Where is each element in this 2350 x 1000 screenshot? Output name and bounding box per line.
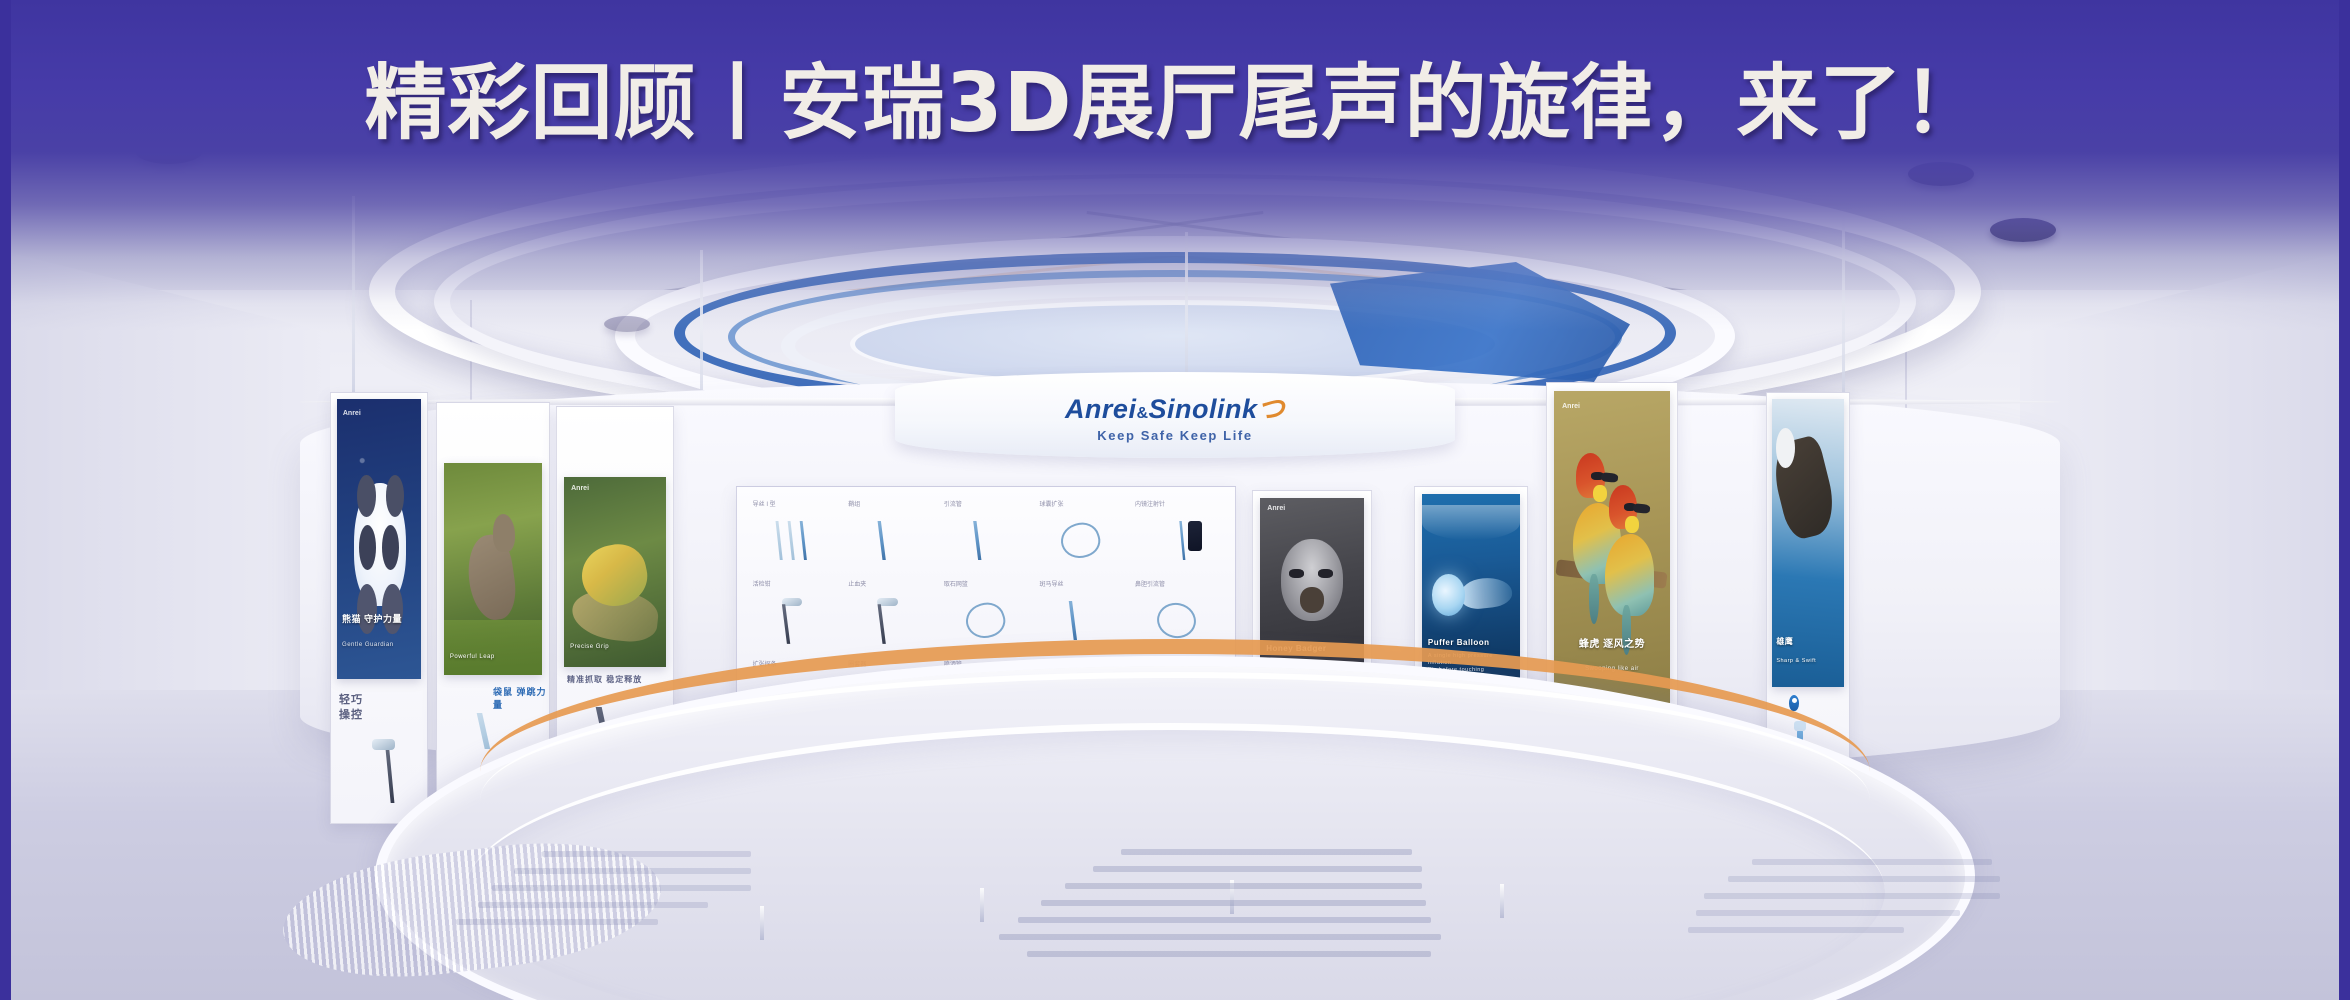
kangaroo-head-shape bbox=[493, 514, 515, 552]
poster-subline: Gentle Guardian bbox=[342, 642, 416, 650]
brand-tagline: Keep Safe Keep Life bbox=[1097, 428, 1252, 443]
product-illustration bbox=[955, 597, 1015, 644]
product-illustration bbox=[859, 517, 919, 564]
poster-brand-mark: Anrei bbox=[1267, 505, 1285, 512]
poster-headline: 熊猫 守护力量 bbox=[342, 614, 416, 625]
panel-caption-cn: 轻巧 操控 bbox=[339, 693, 363, 723]
product-illustration bbox=[955, 517, 1015, 564]
info-i-icon bbox=[1789, 695, 1799, 711]
poster-subline: Sharp & Swift bbox=[1776, 658, 1839, 665]
product-illustration bbox=[1050, 517, 1110, 564]
product-illustration bbox=[764, 597, 824, 644]
product-cell[interactable]: 活检钳 bbox=[749, 577, 841, 653]
product-label: 取石网篮 bbox=[944, 579, 968, 588]
badger-eye-shape bbox=[1318, 569, 1333, 578]
poster-eagle: 雄鹰 Sharp & Swift bbox=[1772, 399, 1844, 687]
poster-headline: 蜂虎 逐风之势 bbox=[1561, 639, 1663, 652]
panel-caption-cn: 精准抓取 稳定释放 bbox=[567, 675, 642, 686]
product-label: 内镜注射针 bbox=[1135, 499, 1165, 508]
kangaroo-grass-shape bbox=[444, 620, 542, 675]
panda-eye-shape bbox=[382, 525, 399, 570]
puffer-balloon-shape bbox=[1432, 574, 1465, 616]
water-surface-shape bbox=[1422, 505, 1520, 539]
product-illustration bbox=[1050, 597, 1110, 644]
badger-snout-shape bbox=[1300, 587, 1325, 613]
product-cell[interactable]: 球囊扩张 bbox=[1036, 497, 1128, 573]
ceiling-spotlight bbox=[604, 316, 650, 332]
exhibition-banner-image: Anrei 熊猫 守护力量 Gentle Guardian 轻巧 操控 bbox=[0, 0, 2350, 1000]
ceiling-spotlight bbox=[1908, 162, 1974, 186]
poster-headline: 雄鹰 bbox=[1776, 637, 1839, 647]
poster-brand-mark: Anrei bbox=[343, 410, 361, 417]
product-illustration bbox=[1146, 597, 1206, 644]
brand-wordmark: Anrei&Sinolinkつ bbox=[1065, 387, 1285, 426]
product-cell[interactable]: 导丝 I 型 bbox=[749, 497, 841, 573]
sub-brand-text: 袋鼠 弹跳力量 bbox=[493, 685, 549, 711]
badger-eye-shape bbox=[1289, 569, 1304, 578]
puffer-tail-shape bbox=[1460, 575, 1514, 611]
brand-logo-band: Anrei&Sinolinkつ Keep Safe Keep Life bbox=[895, 372, 1455, 458]
product-label: 球囊扩张 bbox=[1039, 499, 1063, 508]
product-cell[interactable]: 鞘组 bbox=[845, 497, 937, 573]
panda-eye-shape bbox=[359, 525, 376, 570]
poster-kangaroo: Powerful Leap bbox=[444, 463, 542, 675]
sub-brand-logo: 袋鼠 弹跳力量 bbox=[493, 685, 549, 711]
product-label: 斑马导丝 bbox=[1039, 579, 1063, 588]
product-label: 止血夹 bbox=[848, 579, 866, 588]
product-label: 引流管 bbox=[944, 499, 962, 508]
floor-inscription bbox=[420, 851, 780, 936]
brand-ampersand: & bbox=[1136, 405, 1148, 422]
poster-panel-panda[interactable]: Anrei 熊猫 守护力量 Gentle Guardian 轻巧 操控 bbox=[330, 392, 428, 824]
hanging-rod bbox=[1842, 214, 1845, 410]
poster-bee-eater: Anrei 蜂虎 逐风之势 bbox=[1554, 391, 1670, 703]
product-illustration bbox=[1146, 517, 1206, 564]
product-cell[interactable]: 内镜注射针 bbox=[1131, 497, 1223, 573]
brand-name-part2: Sinolink bbox=[1149, 394, 1258, 424]
poster-brand-mark: Anrei bbox=[1562, 403, 1580, 410]
product-illustration bbox=[859, 597, 919, 644]
bird-shape bbox=[1605, 485, 1654, 616]
ceiling-spotlight bbox=[1990, 218, 2056, 242]
floor-inscription bbox=[980, 849, 1450, 968]
product-cell[interactable]: 引流管 bbox=[940, 497, 1032, 573]
poster-frog: Anrei Precise Grip bbox=[564, 477, 666, 667]
page-title: 精彩回顾丨安瑞3D展厅尾声的旋律，来了！ bbox=[0, 36, 2350, 155]
product-label: 鞘组 bbox=[848, 499, 860, 508]
product-label: 鼻胆引流管 bbox=[1135, 579, 1165, 588]
eagle-head-shape bbox=[1776, 428, 1795, 468]
hanging-rod bbox=[352, 196, 355, 396]
poster-headline: Puffer Balloon bbox=[1428, 638, 1514, 648]
product-illustration bbox=[764, 517, 824, 564]
panda-arm-shape bbox=[357, 584, 377, 634]
instrument-illustration bbox=[361, 739, 413, 809]
sub-brand-logo bbox=[1789, 695, 1799, 711]
brand-name-part1: Anrei bbox=[1065, 394, 1137, 424]
product-cell[interactable]: 止血夹 bbox=[845, 577, 937, 653]
product-label: 活检钳 bbox=[753, 579, 771, 588]
poster-subline: Powerful Leap bbox=[450, 654, 536, 662]
poster-brand-mark: Anrei bbox=[571, 485, 589, 492]
floor-inscription bbox=[1640, 859, 2040, 944]
brand-swoosh-icon: つ bbox=[1258, 394, 1286, 424]
panda-arm-shape bbox=[382, 584, 402, 634]
panda-ear-shape bbox=[386, 475, 404, 517]
poster-subline: Precise Grip bbox=[570, 644, 660, 652]
product-label: 导丝 I 型 bbox=[753, 499, 776, 508]
railing-post bbox=[1500, 884, 1504, 918]
panda-ear-shape bbox=[357, 475, 375, 517]
poster-panda: Anrei 熊猫 守护力量 Gentle Guardian bbox=[337, 399, 421, 679]
